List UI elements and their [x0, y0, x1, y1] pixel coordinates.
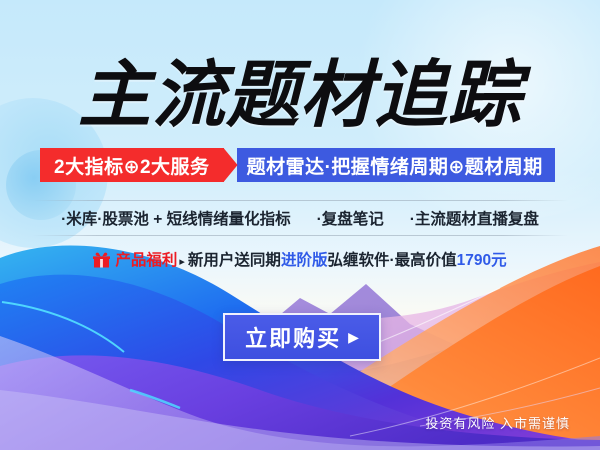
promo-highlight-price: 1790: [457, 252, 491, 269]
tag-indicators: 2大指标⊕2大服务: [40, 148, 224, 182]
tag-row: 2大指标⊕2大服务 题材雷达·把握情绪周期⊕题材周期: [40, 148, 555, 182]
play-arrow-icon: ▶: [348, 329, 359, 346]
buy-now-label: 立即购买: [245, 321, 341, 353]
risk-disclaimer: 投资有风险 入市需谨慎: [425, 413, 570, 432]
buy-now-button[interactable]: 立即购买 ▶: [223, 313, 381, 361]
promo-banner: 主流题材追踪 2大指标⊕2大服务 题材雷达·把握情绪周期⊕题材周期 ·米库·股票…: [0, 0, 600, 450]
feature-item-1: ·米库·股票池 + 短线情绪量化指标: [61, 207, 291, 229]
promo-text-2: 弘缠软件·最高价值: [327, 252, 456, 269]
promo-text-1: 新用户送同期: [188, 252, 281, 269]
feature-item-2: ·复盘笔记: [317, 207, 384, 229]
promo-text-3: 元: [491, 252, 507, 269]
features-list: ·米库·股票池 + 短线情绪量化指标 ·复盘笔记 ·主流题材直播复盘: [32, 201, 568, 235]
tag-arrow-icon: [224, 148, 238, 182]
promo-line: 产品福利▸新用户送同期进阶版弘缠软件·最高价值1790元: [0, 248, 600, 273]
feature-item-3: ·主流题材直播复盘: [410, 207, 539, 229]
promo-benefit-label: 产品福利: [115, 252, 177, 269]
features-section: ·米库·股票池 + 短线情绪量化指标 ·复盘笔记 ·主流题材直播复盘: [32, 200, 568, 236]
page-title: 主流题材追踪: [0, 52, 600, 140]
divider-bottom: [32, 235, 568, 236]
gift-icon: [93, 252, 110, 273]
promo-highlight-edition: 进阶版: [281, 252, 328, 269]
tag-radar: 题材雷达·把握情绪周期⊕题材周期: [237, 148, 555, 182]
promo-arrow-icon: ▸: [179, 256, 185, 268]
